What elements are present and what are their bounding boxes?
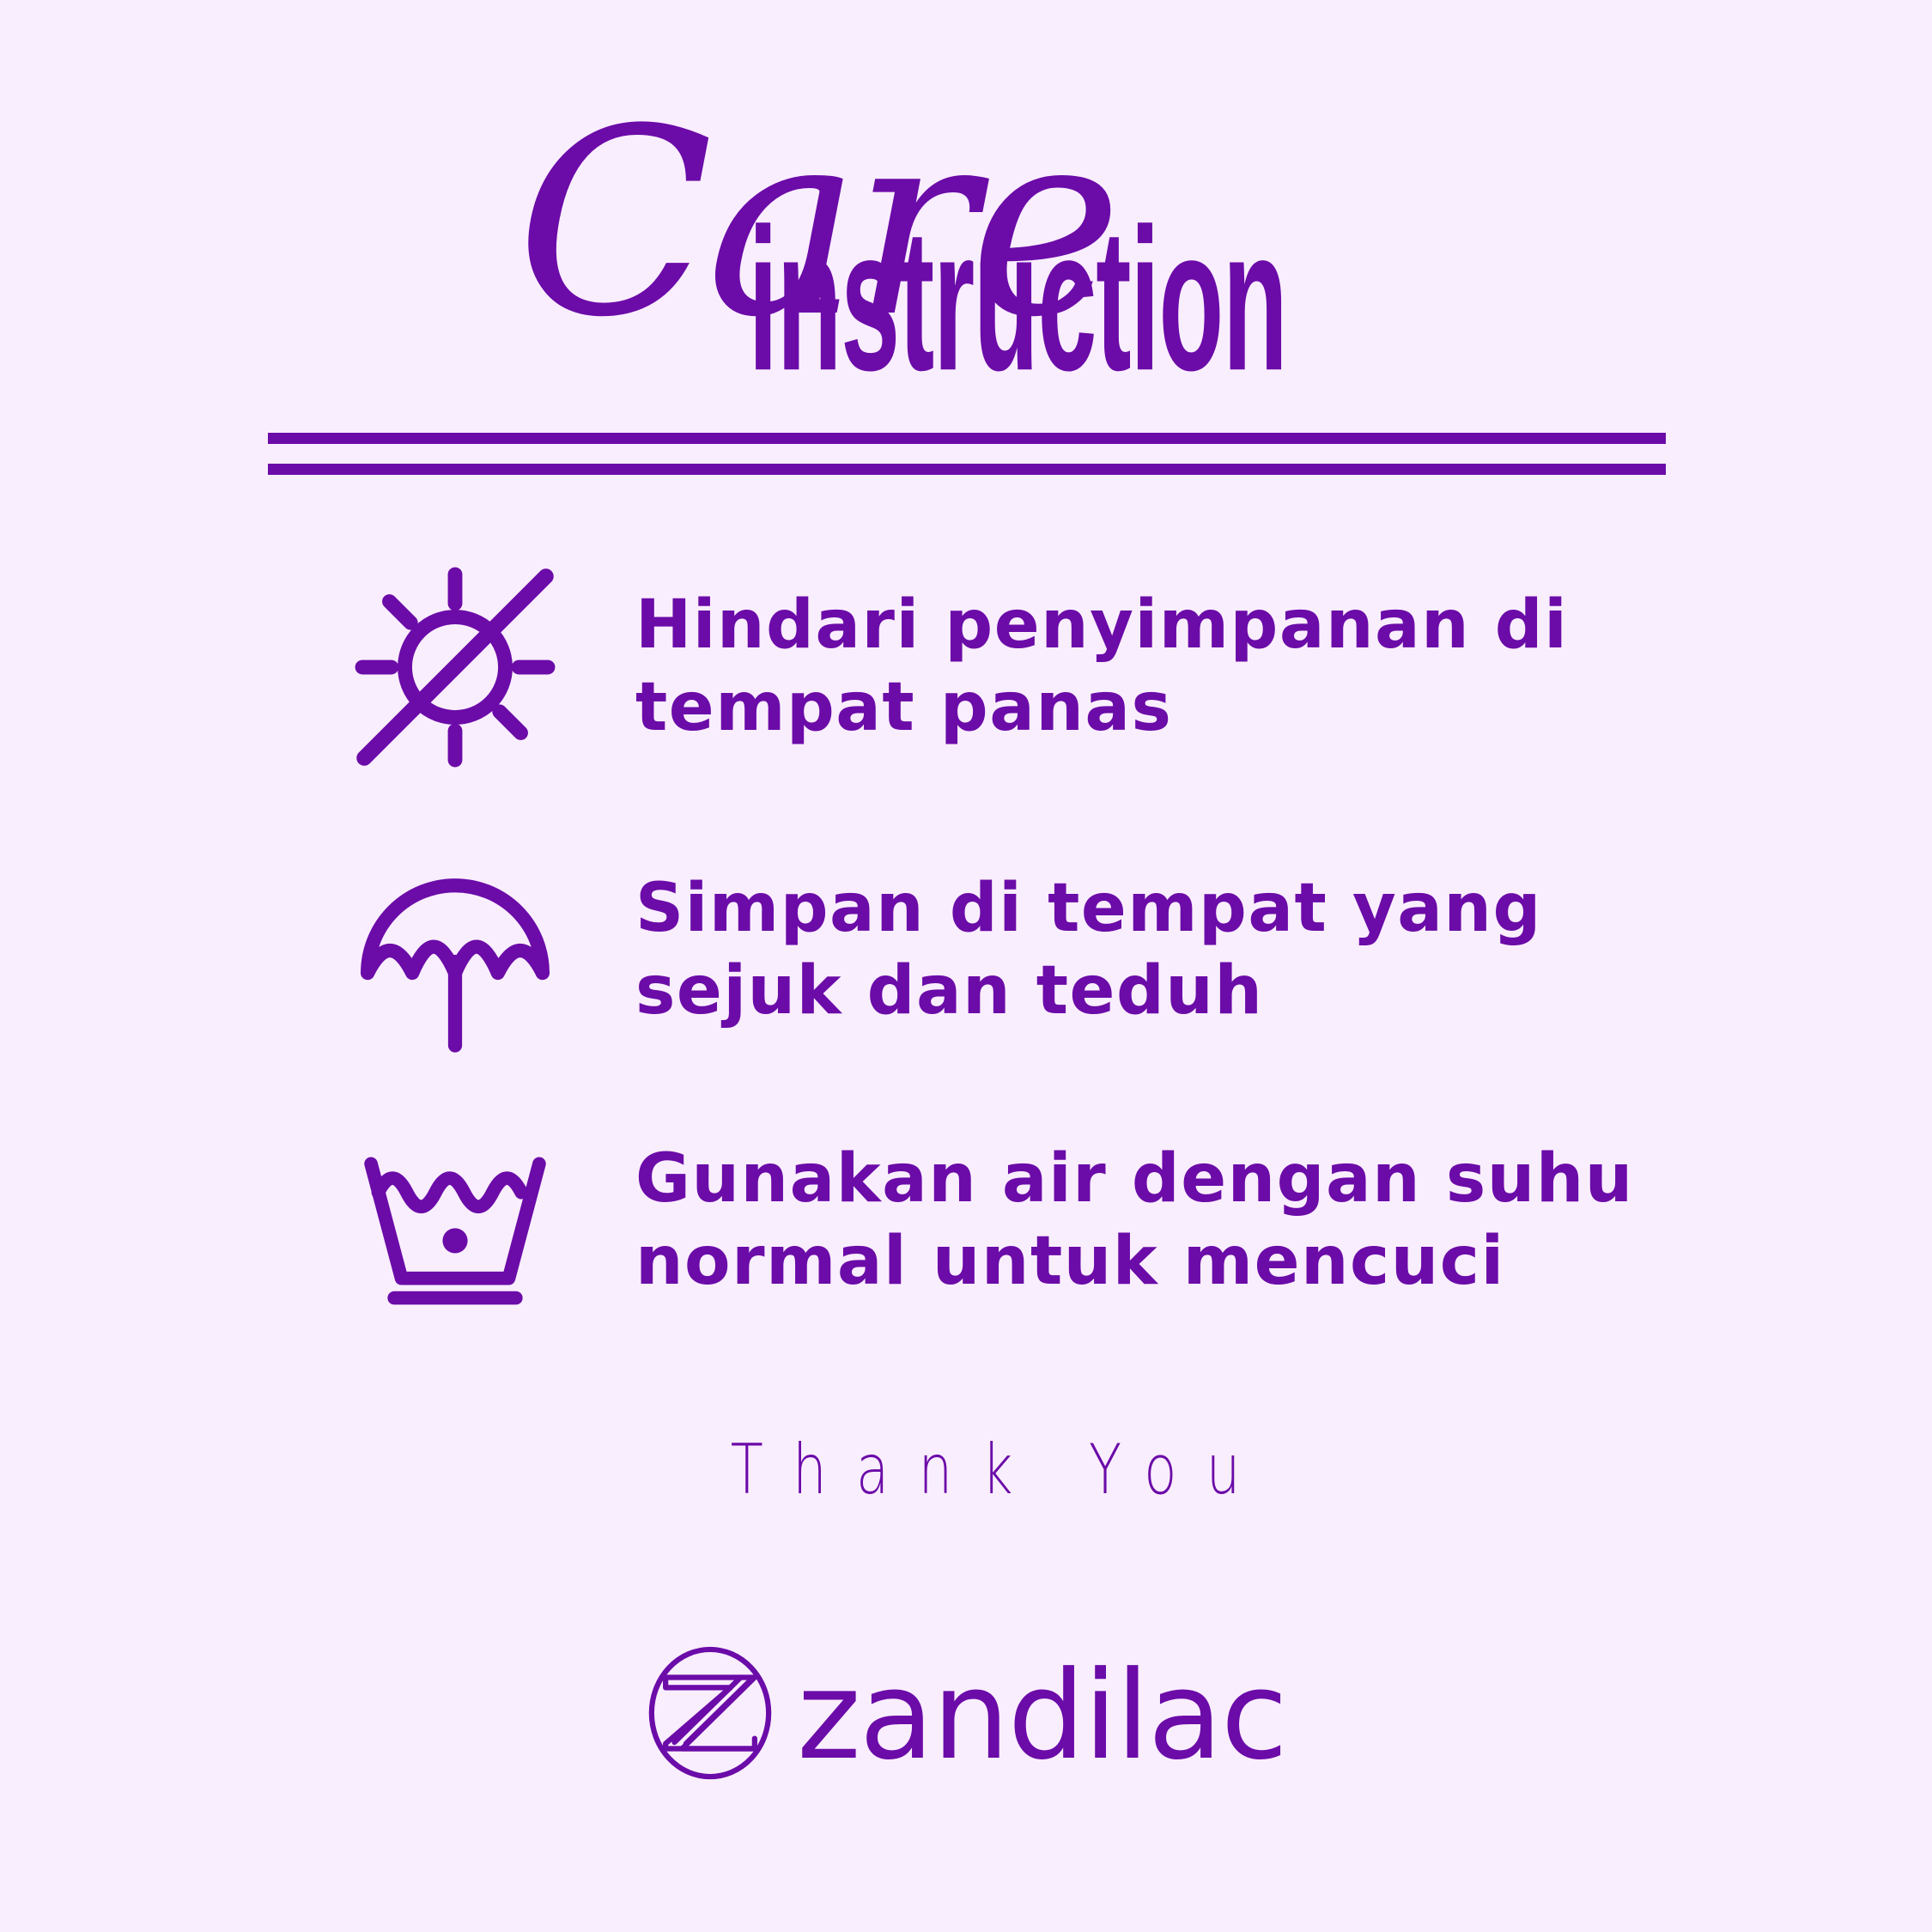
list-item: Gunakan air dengan suhu normal untuk men… xyxy=(0,1092,1932,1350)
instruction-list: Hindari penyimpanan di tempat panas Simp… xyxy=(0,526,1932,1350)
divider-line-top xyxy=(268,433,1666,444)
brand-logo: zandilac xyxy=(0,1644,1932,1782)
instruction-text: Hindari penyimpanan di tempat panas xyxy=(635,585,1649,750)
no-direct-sunlight-icon xyxy=(326,538,584,796)
list-item: Hindari penyimpanan di tempat panas xyxy=(0,526,1932,809)
thank-you-label: Thank You xyxy=(701,1430,1269,1510)
umbrella-keep-dry-icon xyxy=(326,822,584,1079)
care-instruction-card: Care instruction xyxy=(0,0,1932,1932)
divider-line-bottom xyxy=(268,464,1666,475)
title-script-word: Care xyxy=(516,101,1115,346)
wash-tub-normal-temperature-icon xyxy=(326,1092,584,1350)
zandilac-z-monogram-icon xyxy=(646,1644,775,1782)
page-title: Care instruction xyxy=(0,0,1932,404)
list-item: Simpan di tempat yang sejuk dan teduh xyxy=(0,809,1932,1092)
instruction-text: Simpan di tempat yang sejuk dan teduh xyxy=(635,868,1649,1033)
instruction-text: Gunakan air dengan suhu normal untuk men… xyxy=(635,1139,1649,1303)
thank-you-text: Thank You xyxy=(0,1430,1932,1510)
brand-name: zandilac xyxy=(797,1656,1286,1777)
